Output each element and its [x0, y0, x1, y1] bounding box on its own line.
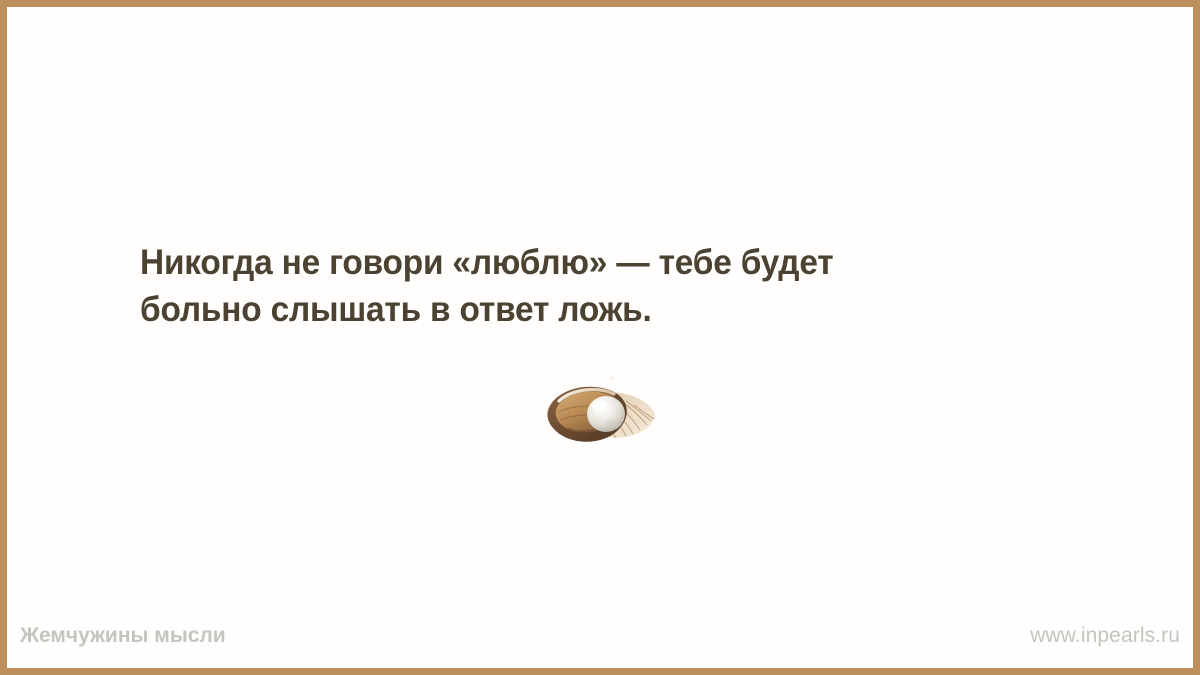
quote-text: Никогда не говори «люблю» — тебе будет б…	[140, 239, 1038, 333]
footer-site-url[interactable]: www.inpearls.ru	[1030, 623, 1180, 649]
illustration-area	[7, 367, 1193, 453]
shell-with-pearl-icon	[538, 370, 662, 450]
quote-card: Никогда не говори «люблю» — тебе будет б…	[0, 0, 1200, 675]
footer: Жемчужины мысли www.inpearls.ru	[7, 622, 1193, 650]
footer-brand: Жемчужины мысли	[20, 623, 226, 649]
sparkle-icon	[610, 376, 613, 379]
quote-block: Никогда не говори «люблю» — тебе будет б…	[140, 239, 1080, 333]
card-inner: Никогда не говори «люблю» — тебе будет б…	[7, 7, 1193, 668]
pearl-icon	[587, 396, 625, 432]
